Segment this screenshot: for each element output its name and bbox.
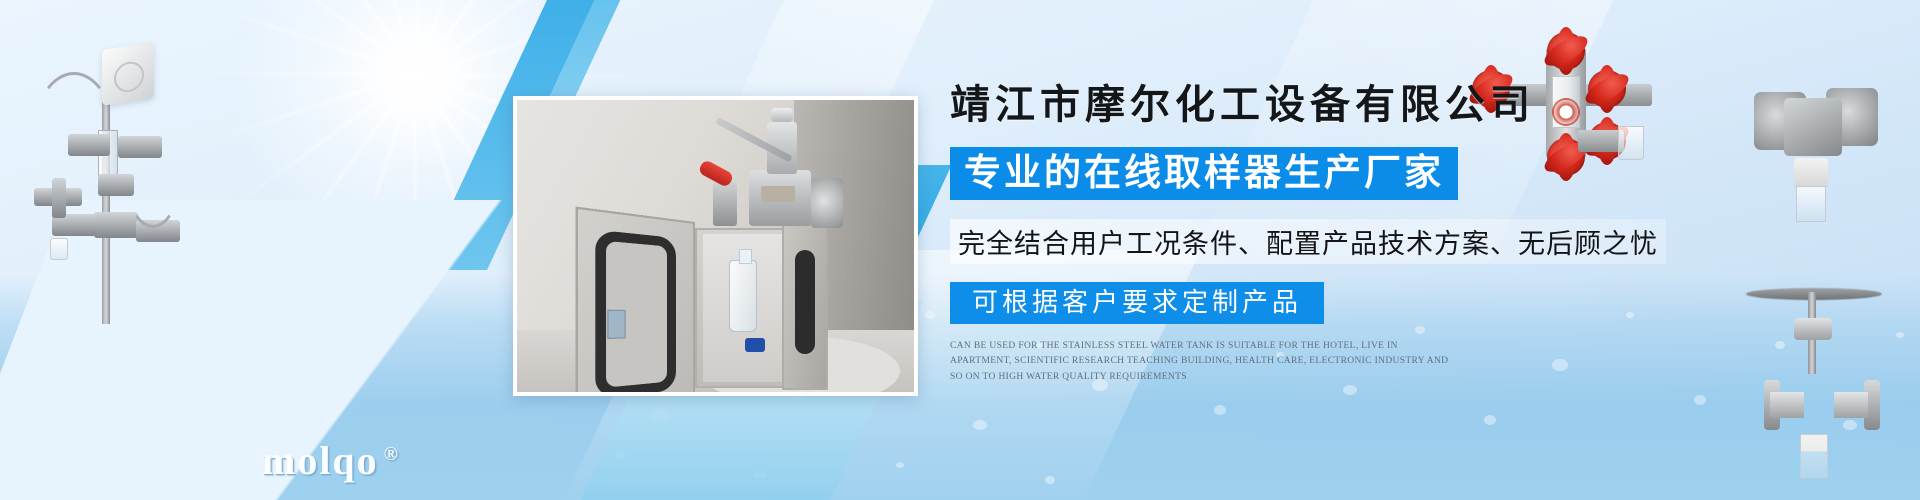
sub-headline: 完全结合用户工况条件、配置产品技术方案、无后顾之忧 bbox=[950, 219, 1666, 264]
banner-copy: 靖江市摩尔化工设备有限公司 专业的在线取样器生产厂家 完全结合用户工况条件、配置… bbox=[950, 72, 1710, 385]
product-banner: 靖江市摩尔化工设备有限公司 专业的在线取样器生产厂家 完全结合用户工况条件、配置… bbox=[0, 0, 1920, 500]
brand-watermark: molqo® bbox=[262, 437, 400, 484]
headline-badge: 专业的在线取样器生产厂家 bbox=[950, 147, 1458, 200]
cabinet-top-valve bbox=[713, 108, 843, 232]
tagline-badge: 可根据客户要求定制产品 bbox=[950, 282, 1324, 324]
center-product-photo bbox=[513, 96, 918, 396]
company-name: 靖江市摩尔化工设备有限公司 bbox=[950, 72, 1710, 130]
watermark-text: molqo bbox=[262, 438, 379, 483]
right-bottom-product-image bbox=[1742, 272, 1902, 482]
registered-mark-icon: ® bbox=[384, 444, 400, 465]
left-product-image bbox=[6, 14, 202, 324]
english-description: CAN BE USED FOR THE STAINLESS STEEL WATE… bbox=[950, 339, 1450, 385]
right-mid-product-image bbox=[1730, 36, 1900, 236]
